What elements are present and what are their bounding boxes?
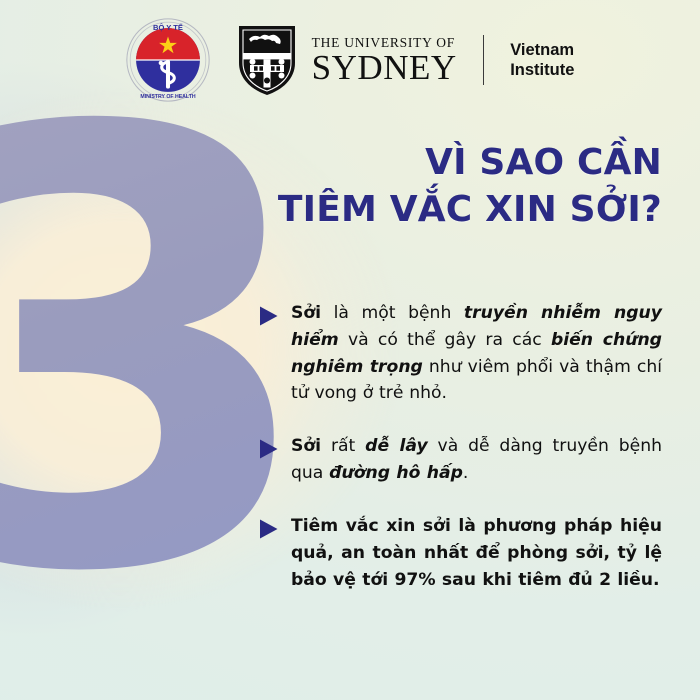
triangle-right-bullet-icon [258,518,279,540]
page-title-line1: VÌ SAO CẦN [102,140,662,187]
bullet-text: Sởi rất dễ lây và dễ dàng truyền bệnh qu… [291,433,662,487]
svg-text:MINISTRY OF HEALTH: MINISTRY OF HEALTH [140,94,195,100]
bullet-text: Tiêm vắc xin sởi là phương pháp hiệu quả… [291,513,662,593]
sydney-university-lockup: THE UNIVERSITY OF SYDNEY [236,23,457,97]
bullet-item: Sởi là một bệnh truyền nhiễm nguy hiểm v… [258,300,662,407]
triangle-right-bullet-icon [258,305,279,327]
bullet-item: Sởi rất dễ lây và dễ dàng truyền bệnh qu… [258,433,662,487]
page-title: VÌ SAO CẦN TIÊM VẮC XIN SỞI? [102,140,662,234]
institute-line2: Institute [510,60,574,80]
poster-canvas: 3 BỘ Y TẾ MINISTRY OF HEALTH [0,0,700,700]
sydney-university-crest-icon [236,23,298,97]
vietnam-institute-wordmark: Vietnam Institute [510,40,574,80]
sydney-wordmark-line2: SYDNEY [312,52,457,84]
header-logo-bar: BỘ Y TẾ MINISTRY OF HEALTH [0,14,700,106]
institute-line1: Vietnam [510,40,574,60]
sydney-wordmark: THE UNIVERSITY OF SYDNEY [312,36,457,84]
bullet-text: Sởi là một bệnh truyền nhiễm nguy hiểm v… [291,300,662,407]
lockup-divider [483,35,485,85]
svg-text:BỘ Y TẾ: BỘ Y TẾ [153,22,183,32]
triangle-right-bullet-icon [258,438,279,460]
bullet-list: Sởi là một bệnh truyền nhiễm nguy hiểm v… [258,300,662,593]
page-title-line2: TIÊM VẮC XIN SỞI? [102,187,662,234]
ministry-of-health-vietnam-logo-icon: BỘ Y TẾ MINISTRY OF HEALTH [126,18,210,102]
bullet-item: Tiêm vắc xin sởi là phương pháp hiệu quả… [258,513,662,593]
